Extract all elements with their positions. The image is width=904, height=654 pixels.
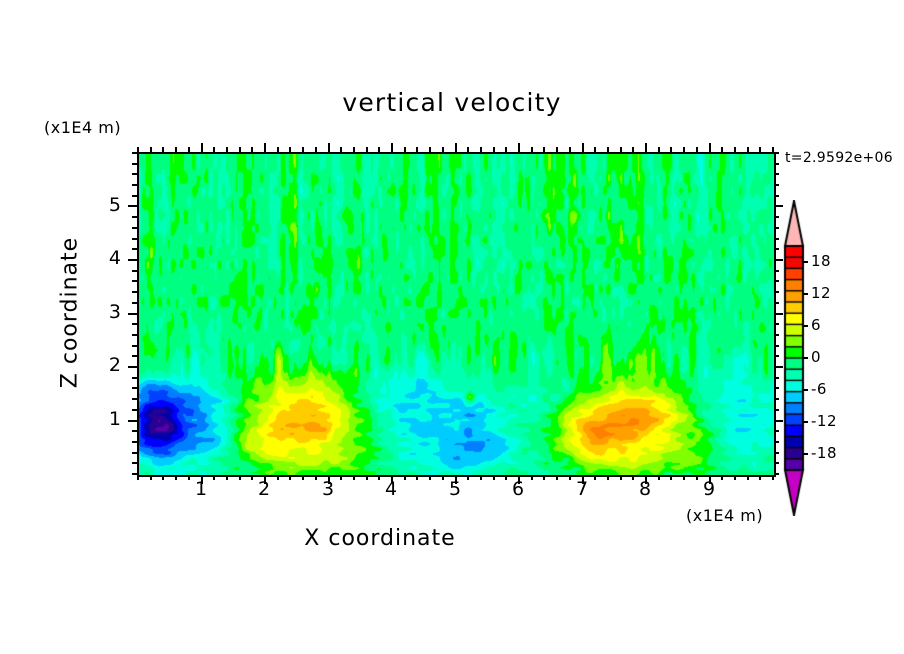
- colorbar-tick: [803, 453, 808, 455]
- axis-tick: [480, 147, 482, 152]
- x-axis-title: X coordinate: [0, 526, 760, 551]
- axis-tick: [774, 398, 779, 400]
- axis-tick: [132, 302, 137, 304]
- axis-tick: [251, 147, 253, 152]
- colorbar-tick: [803, 389, 808, 391]
- axis-tick: [774, 163, 779, 165]
- axis-tick: [556, 147, 558, 152]
- axis-tick: [734, 475, 736, 480]
- x-axis-tick-label: 3: [313, 478, 343, 500]
- axis-tick: [391, 143, 393, 152]
- axis-tick: [543, 475, 545, 480]
- x-axis-tick-label: 6: [503, 478, 533, 500]
- axis-tick: [353, 475, 355, 480]
- axis-tick: [774, 152, 779, 154]
- axis-tick: [128, 259, 137, 261]
- axis-tick: [759, 475, 761, 480]
- axis-tick: [132, 430, 137, 432]
- colorbar-tick-label: -6: [811, 380, 827, 398]
- axis-tick: [774, 184, 779, 186]
- axis-tick: [658, 147, 660, 152]
- axis-tick: [543, 147, 545, 152]
- axis-tick: [774, 270, 779, 272]
- axis-tick: [132, 409, 137, 411]
- axis-tick: [128, 313, 137, 315]
- axis-tick: [594, 147, 596, 152]
- colorbar-tick-label: -18: [811, 444, 837, 462]
- axis-tick: [132, 398, 137, 400]
- x-axis-tick-label: 5: [440, 478, 470, 500]
- axis-tick: [132, 216, 137, 218]
- axis-tick: [774, 291, 779, 293]
- axis-tick: [556, 475, 558, 480]
- timestamp-annotation: t=2.9592e+06: [785, 150, 893, 166]
- axis-tick: [607, 147, 609, 152]
- axis-tick: [132, 227, 137, 229]
- axis-tick: [226, 475, 228, 480]
- y-axis-unit-label: (x1E4 m): [44, 118, 121, 137]
- y-axis-tick-label: 2: [91, 354, 121, 376]
- axis-tick: [132, 377, 137, 379]
- axis-tick: [128, 420, 137, 422]
- axis-tick: [759, 147, 761, 152]
- axis-tick: [774, 195, 779, 197]
- axis-tick: [429, 475, 431, 480]
- axis-tick: [378, 147, 380, 152]
- axis-tick: [188, 147, 190, 152]
- axis-tick: [132, 452, 137, 454]
- axis-tick: [128, 366, 137, 368]
- colorbar-tick: [803, 421, 808, 423]
- axis-tick: [213, 147, 215, 152]
- axis-tick: [696, 147, 698, 152]
- y-axis-tick-label: 1: [91, 408, 121, 430]
- axis-tick: [132, 334, 137, 336]
- axis-tick: [340, 147, 342, 152]
- axis-tick: [772, 475, 774, 480]
- axis-tick: [132, 473, 137, 475]
- y-axis-tick-label: 3: [91, 301, 121, 323]
- axis-tick: [132, 355, 137, 357]
- axis-tick: [774, 302, 779, 304]
- axis-tick: [774, 355, 779, 357]
- x-axis-unit-label: (x1E4 m): [686, 506, 763, 525]
- y-axis-tick-label: 4: [91, 247, 121, 269]
- axis-tick: [404, 147, 406, 152]
- axis-tick: [493, 147, 495, 152]
- axis-tick: [239, 475, 241, 480]
- axis-tick: [774, 216, 779, 218]
- axis-tick: [455, 143, 457, 152]
- axis-tick: [239, 147, 241, 152]
- colorbar-tick-label: -12: [811, 412, 837, 430]
- axis-tick: [289, 147, 291, 152]
- axis-tick: [132, 152, 137, 154]
- x-axis-tick-label: 7: [567, 478, 597, 500]
- axis-tick: [721, 147, 723, 152]
- axis-tick: [175, 475, 177, 480]
- axis-tick: [747, 475, 749, 480]
- colorbar-tick: [803, 261, 808, 263]
- axis-tick: [480, 475, 482, 480]
- axis-tick: [416, 147, 418, 152]
- page-title: vertical velocity: [0, 88, 904, 117]
- axis-tick: [132, 195, 137, 197]
- axis-tick: [226, 147, 228, 152]
- axis-tick: [289, 475, 291, 480]
- x-axis-tick-label: 2: [249, 478, 279, 500]
- axis-tick: [429, 147, 431, 152]
- colorbar-tick-label: 6: [811, 316, 821, 334]
- axis-tick: [162, 475, 164, 480]
- axis-tick: [132, 387, 137, 389]
- axis-tick: [683, 147, 685, 152]
- x-axis-tick-label: 9: [694, 478, 724, 500]
- axis-tick: [150, 475, 152, 480]
- colorbar-tick-label: 0: [811, 348, 821, 366]
- axis-tick: [132, 345, 137, 347]
- axis-tick: [201, 143, 203, 152]
- axis-tick: [442, 147, 444, 152]
- x-axis-tick-label: 4: [376, 478, 406, 500]
- axis-tick: [747, 147, 749, 152]
- axis-tick: [670, 475, 672, 480]
- axis-tick: [518, 143, 520, 152]
- axis-tick: [620, 475, 622, 480]
- y-axis-title: Z coordinate: [58, 183, 83, 443]
- axis-tick: [774, 430, 779, 432]
- axis-tick: [774, 323, 779, 325]
- axis-tick: [709, 143, 711, 152]
- axis-tick: [132, 238, 137, 240]
- axis-tick: [774, 387, 779, 389]
- colorbar-tick-label: 18: [811, 252, 831, 270]
- contour-plot-canvas: [139, 154, 774, 475]
- axis-tick: [175, 147, 177, 152]
- axis-tick: [132, 248, 137, 250]
- axis-tick: [137, 475, 139, 480]
- axis-tick: [774, 248, 779, 250]
- axis-tick: [774, 227, 779, 229]
- axis-tick: [774, 345, 779, 347]
- axis-tick: [774, 280, 779, 282]
- axis-tick: [132, 163, 137, 165]
- x-axis-tick-label: 8: [630, 478, 660, 500]
- axis-tick: [774, 377, 779, 379]
- axis-tick: [132, 323, 137, 325]
- axis-tick: [582, 143, 584, 152]
- axis-tick: [132, 280, 137, 282]
- axis-tick: [353, 147, 355, 152]
- colorbar-tick: [803, 293, 808, 295]
- axis-tick: [132, 270, 137, 272]
- axis-tick: [505, 147, 507, 152]
- axis-tick: [645, 143, 647, 152]
- colorbar-tick: [803, 357, 808, 359]
- axis-tick: [132, 462, 137, 464]
- axis-tick: [302, 147, 304, 152]
- axis-tick: [493, 475, 495, 480]
- x-axis-tick-label: 1: [186, 478, 216, 500]
- colorbar-tick-label: 12: [811, 284, 831, 302]
- axis-tick: [132, 291, 137, 293]
- axis-tick: [366, 147, 368, 152]
- axis-tick: [620, 147, 622, 152]
- axis-tick: [774, 173, 779, 175]
- axis-tick: [632, 147, 634, 152]
- axis-tick: [531, 147, 533, 152]
- axis-tick: [302, 475, 304, 480]
- axis-tick: [132, 184, 137, 186]
- axis-tick: [328, 143, 330, 152]
- axis-tick: [150, 147, 152, 152]
- axis-tick: [366, 475, 368, 480]
- axis-tick: [162, 147, 164, 152]
- axis-tick: [774, 452, 779, 454]
- axis-tick: [132, 441, 137, 443]
- axis-tick: [683, 475, 685, 480]
- axis-tick: [315, 147, 317, 152]
- axis-tick: [670, 147, 672, 152]
- axis-tick: [137, 147, 139, 152]
- axis-tick: [277, 147, 279, 152]
- axis-tick: [774, 409, 779, 411]
- axis-tick: [774, 238, 779, 240]
- y-axis-tick-label: 5: [91, 194, 121, 216]
- axis-tick: [774, 334, 779, 336]
- axis-tick: [569, 147, 571, 152]
- axis-tick: [734, 147, 736, 152]
- axis-tick: [467, 147, 469, 152]
- axis-tick: [774, 473, 779, 475]
- axis-tick: [264, 143, 266, 152]
- colorbar-tick: [803, 325, 808, 327]
- axis-tick: [416, 475, 418, 480]
- contour-plot-frame: [137, 152, 776, 477]
- axis-tick: [128, 205, 137, 207]
- axis-tick: [774, 441, 779, 443]
- axis-tick: [132, 173, 137, 175]
- axis-tick: [774, 462, 779, 464]
- axis-tick: [607, 475, 609, 480]
